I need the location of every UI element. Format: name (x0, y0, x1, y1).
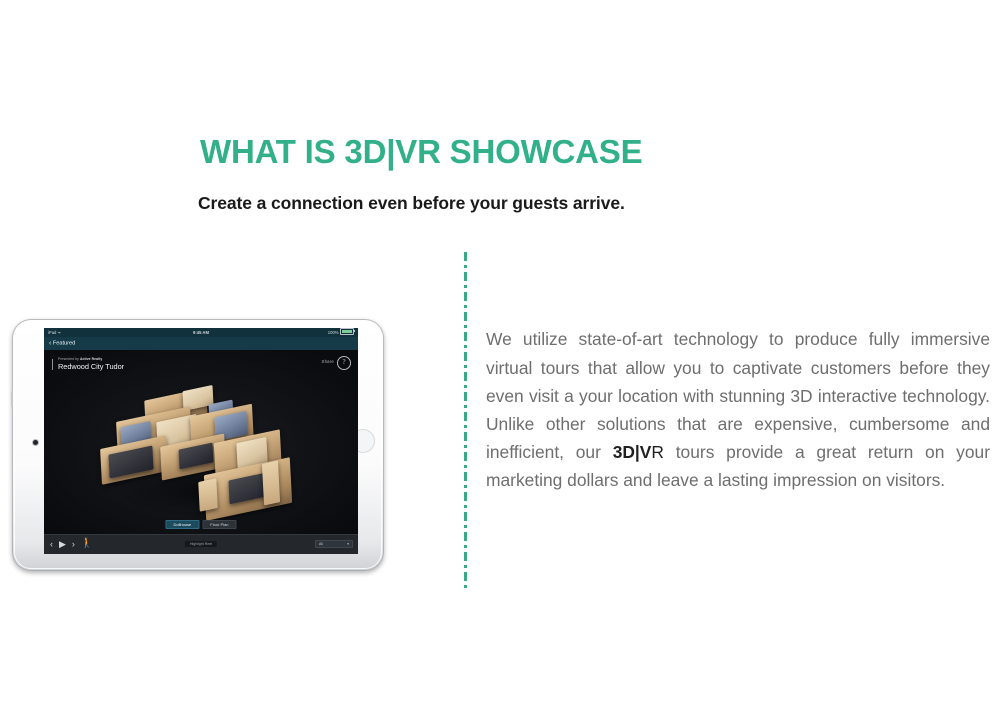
share-button[interactable]: Share (322, 359, 334, 364)
chevron-down-icon: ▾ (347, 541, 349, 548)
battery-icon (340, 328, 354, 335)
chevron-left-icon[interactable]: ‹ (50, 538, 53, 550)
presented-by-line: Presented by Active Realty (58, 357, 124, 361)
chevron-right-icon[interactable]: › (72, 538, 75, 550)
mode-button-floorplan[interactable]: Floor Plan (202, 520, 236, 529)
floor-select-value: All (319, 542, 323, 546)
vertical-dashed-divider (464, 252, 467, 588)
back-button[interactable]: ‹Featured (49, 337, 75, 350)
highlight-reel-label: Highlight Reel (185, 541, 217, 547)
page-subtitle: Create a connection even before your gue… (198, 193, 838, 214)
status-battery: 100% (328, 328, 354, 337)
status-time: 9:45 AM (44, 328, 358, 337)
mode-button-dollhouse[interactable]: Dollhouse (165, 520, 199, 529)
info-help-icon[interactable]: ? (337, 356, 351, 370)
brand-rest-part: R (651, 442, 664, 462)
back-button-label: Featured (53, 340, 75, 346)
model-block (262, 461, 280, 506)
tablet-side-button[interactable] (11, 391, 14, 407)
ios-status-bar: iPad ᯤ 9:45 AM 100% (44, 328, 358, 337)
tablet-camera-icon (33, 440, 38, 445)
property-name: Redwood City Tudor (58, 362, 124, 371)
page-title: WHAT IS 3D|VR SHOWCASE (200, 133, 820, 171)
model-viewer[interactable]: Presented by Active Realty Redwood City … (44, 350, 358, 554)
status-battery-label: 100% (328, 330, 339, 335)
property-info-card: Presented by Active Realty Redwood City … (50, 355, 136, 374)
app-nav-bar: ‹Featured (44, 337, 358, 350)
floor-select-dropdown[interactable]: All▾ (315, 540, 353, 548)
card-accent-bar (52, 359, 53, 370)
brand-bold-part: 3D|V (613, 442, 652, 462)
presented-by-prefix: Presented by (58, 357, 80, 361)
tablet-device: iPad ᯤ 9:45 AM 100% ‹Featured Presented … (12, 319, 384, 571)
body-paragraph: We utilize state-of-art technology to pr… (486, 325, 990, 494)
playback-controls: ‹ ▶ › 🚶 (50, 538, 93, 550)
viewer-toolbar: ‹ ▶ › 🚶 Highlight Reel All▾ (44, 534, 358, 554)
chevron-left-icon: ‹ (49, 340, 51, 347)
presented-by-name: Active Realty (80, 357, 102, 361)
view-mode-toggle-group[interactable]: Dollhouse Floor Plan (165, 520, 236, 529)
brand-inline: 3D|VR (613, 442, 664, 462)
tablet-screen: iPad ᯤ 9:45 AM 100% ‹Featured Presented … (44, 328, 358, 554)
play-icon[interactable]: ▶ (59, 538, 66, 550)
model-block (198, 478, 218, 511)
walking-person-icon[interactable]: 🚶 (81, 538, 93, 550)
dollhouse-3d-model[interactable] (87, 380, 315, 530)
